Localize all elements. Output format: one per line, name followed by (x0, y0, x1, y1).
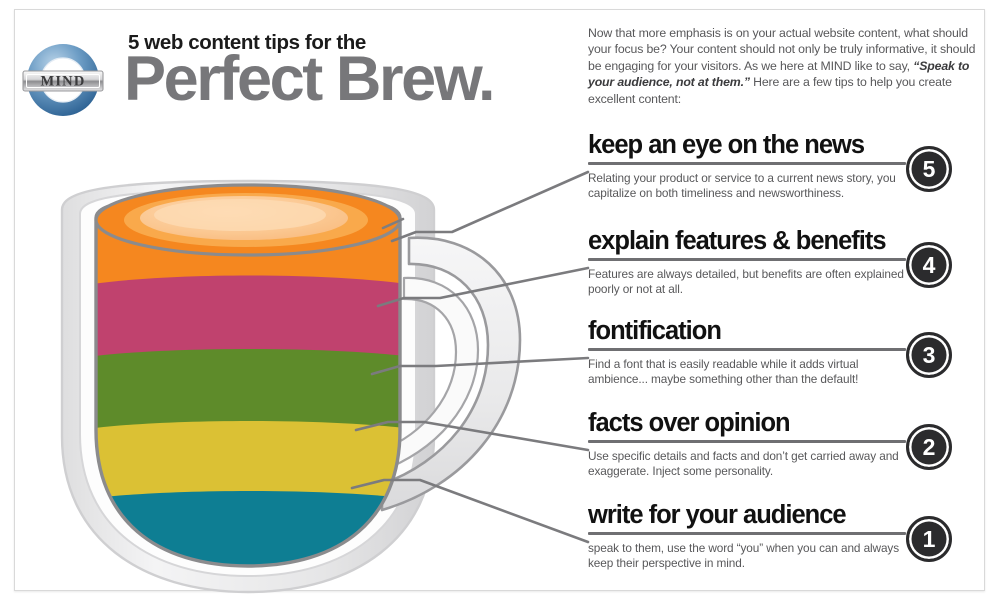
tip-badge-4: 4 (906, 242, 952, 288)
tip-body-1: speak to them, use the word “you” when y… (588, 541, 906, 572)
tip-rule-2 (588, 440, 906, 443)
tip-badge-2: 2 (906, 424, 952, 470)
tip-body-3: Find a font that is easily readable whil… (588, 357, 906, 388)
tip-badge-1: 1 (906, 516, 952, 562)
tip-badge-5: 5 (906, 146, 952, 192)
cup-rim-and-foam (96, 185, 403, 255)
tip-rule-1 (588, 532, 906, 535)
tip-badge-3: 3 (906, 332, 952, 378)
tip-rule-5 (588, 162, 906, 165)
tip-rule-4 (588, 258, 906, 261)
tip-body-5: Relating your product or service to a cu… (588, 171, 906, 202)
tip-rule-3 (588, 348, 906, 351)
tip-body-2: Use specific details and facts and don’t… (588, 449, 906, 480)
tip-body-4: Features are always detailed, but benefi… (588, 267, 906, 298)
infographic-canvas: MIND 5 web content tips for the Perfect … (0, 0, 1000, 608)
